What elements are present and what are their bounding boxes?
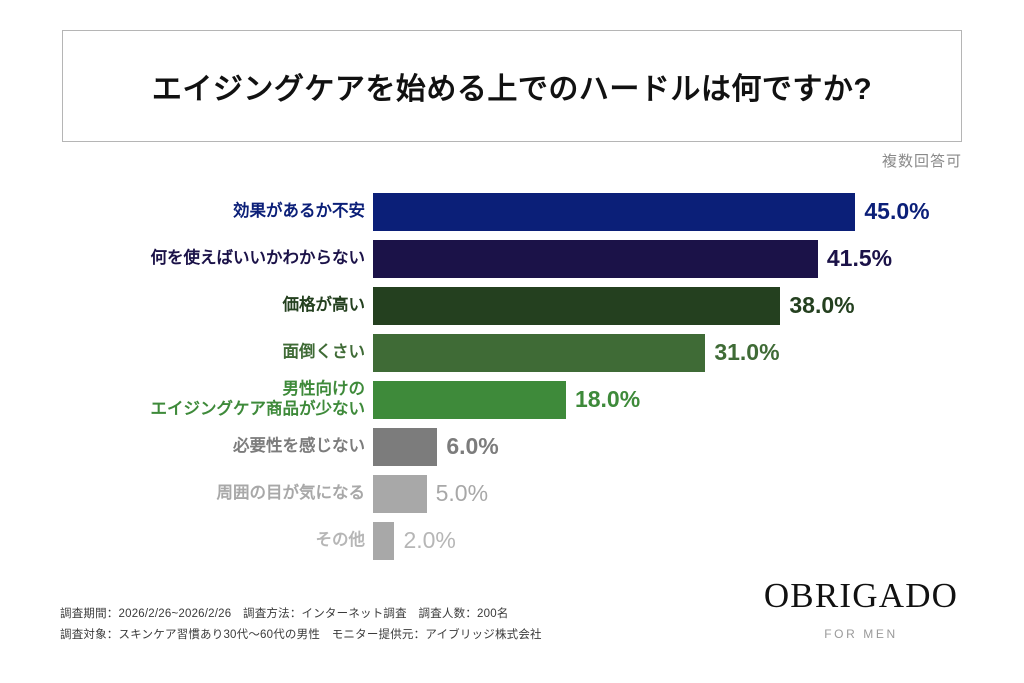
bar-category-label: 面倒くさい: [35, 343, 365, 362]
bar-category-label: 価格が高い: [35, 296, 365, 315]
multiple-answer-note: 複数回答可: [882, 150, 962, 171]
chart-row: 価格が高い38.0%: [0, 282, 1024, 329]
bar-rect: [373, 334, 705, 372]
bar-chart: 効果があるか不安45.0%何を使えばいいかわからない41.5%価格が高い38.0…: [0, 188, 1024, 564]
page-title: エイジングケアを始める上でのハードルは何ですか?: [152, 64, 872, 108]
bar-rect: [373, 193, 855, 231]
brand-logo: OBRIGADO FOR MEN: [756, 578, 966, 641]
bar-container: 18.0%: [373, 381, 640, 419]
bar-container: 2.0%: [373, 522, 456, 560]
survey-note-line-2: 調査対象：スキンケア習慣あり30代〜60代の男性 モニター提供元：アイブリッジ株…: [60, 625, 542, 646]
bar-rect: [373, 428, 437, 466]
chart-row: その他2.0%: [0, 517, 1024, 564]
bar-category-label: 必要性を感じない: [35, 437, 365, 456]
bar-rect: [373, 381, 566, 419]
chart-row: 必要性を感じない6.0%: [0, 423, 1024, 470]
brand-subtitle: FOR MEN: [756, 627, 966, 641]
bar-rect: [373, 240, 818, 278]
survey-notes: 調査期間：2026/2/26~2026/2/26 調査方法：インターネット調査 …: [60, 604, 542, 647]
bar-rect: [373, 522, 394, 560]
bar-value-label: 18.0%: [575, 386, 640, 413]
bar-container: 41.5%: [373, 240, 892, 278]
bar-rect: [373, 475, 427, 513]
bar-value-label: 6.0%: [446, 433, 498, 460]
bar-value-label: 31.0%: [714, 339, 779, 366]
bar-category-label: 周囲の目が気になる: [35, 484, 365, 503]
bar-container: 5.0%: [373, 475, 488, 513]
chart-row: 周囲の目が気になる5.0%: [0, 470, 1024, 517]
chart-row: 男性向けの エイジングケア商品が少ない18.0%: [0, 376, 1024, 423]
bar-value-label: 41.5%: [827, 245, 892, 272]
bar-rect: [373, 287, 780, 325]
bar-container: 6.0%: [373, 428, 499, 466]
bar-value-label: 38.0%: [789, 292, 854, 319]
chart-row: 面倒くさい31.0%: [0, 329, 1024, 376]
bar-container: 31.0%: [373, 334, 780, 372]
chart-row: 何を使えばいいかわからない41.5%: [0, 235, 1024, 282]
survey-note-line-1: 調査期間：2026/2/26~2026/2/26 調査方法：インターネット調査 …: [60, 604, 542, 625]
bar-category-label: その他: [35, 531, 365, 550]
bar-value-label: 5.0%: [436, 480, 488, 507]
bar-category-label: 男性向けの エイジングケア商品が少ない: [35, 380, 365, 419]
bar-category-label: 効果があるか不安: [35, 202, 365, 221]
bar-container: 45.0%: [373, 193, 930, 231]
bar-value-label: 45.0%: [864, 198, 929, 225]
bar-value-label: 2.0%: [403, 527, 455, 554]
title-box: エイジングケアを始める上でのハードルは何ですか?: [62, 30, 962, 142]
chart-row: 効果があるか不安45.0%: [0, 188, 1024, 235]
bar-container: 38.0%: [373, 287, 855, 325]
bar-category-label: 何を使えばいいかわからない: [35, 249, 365, 268]
brand-name: OBRIGADO: [756, 578, 966, 613]
